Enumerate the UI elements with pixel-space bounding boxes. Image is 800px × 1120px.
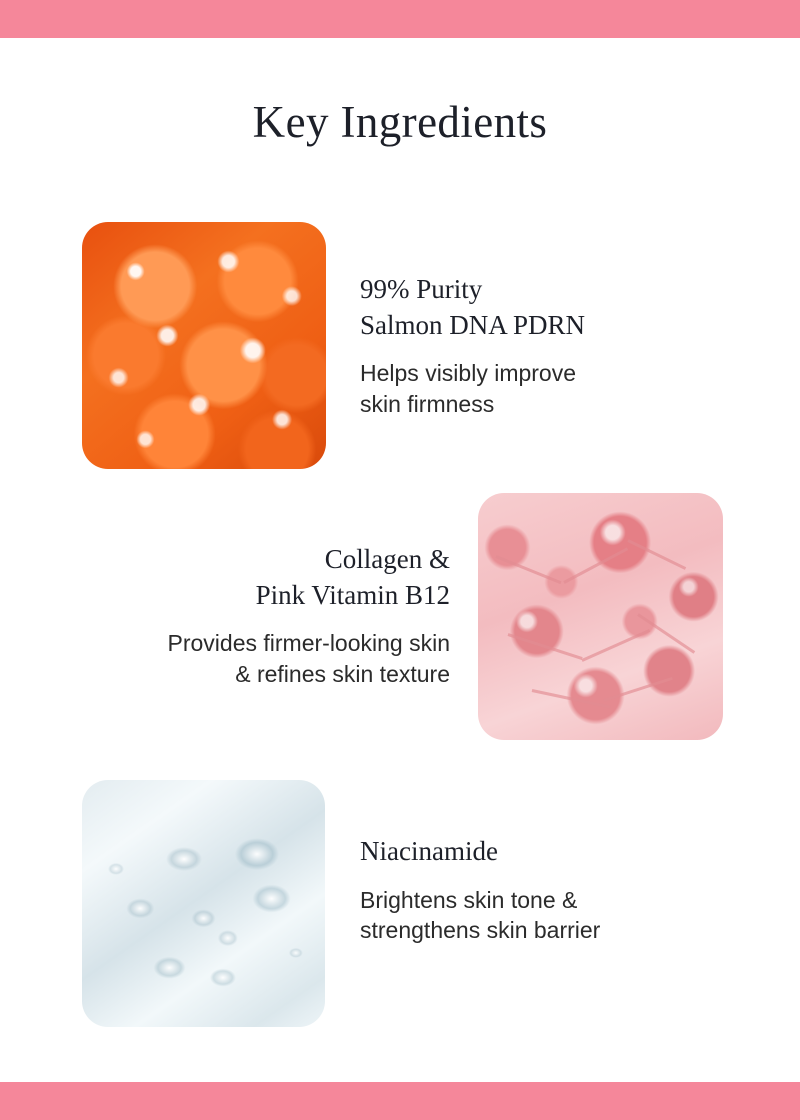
ingredient-description: Provides firmer-looking skin & refines s…	[60, 628, 450, 689]
ingredient-description: Brightens skin tone & strengthens skin b…	[360, 885, 710, 946]
ingredient-block-collagen-pink-vitamin-b12: Collagen & Pink Vitamin B12 Provides fir…	[60, 542, 450, 689]
ingredient-description: Helps visibly improve skin firmness	[360, 358, 700, 419]
salmon-roe-image	[82, 222, 326, 469]
ingredient-block-niacinamide: Niacinamide Brightens skin tone & streng…	[360, 834, 710, 946]
top-accent-band	[0, 0, 800, 38]
water-droplets-image	[82, 780, 325, 1027]
ingredient-title: 99% Purity Salmon DNA PDRN	[360, 272, 700, 343]
ingredient-block-salmon-dna-pdrn: 99% Purity Salmon DNA PDRN Helps visibly…	[360, 272, 700, 419]
bottom-accent-band	[0, 1082, 800, 1120]
ingredient-title: Collagen & Pink Vitamin B12	[60, 542, 450, 613]
page-title: Key Ingredients	[0, 96, 800, 148]
ingredient-title: Niacinamide	[360, 834, 710, 870]
pink-molecule-image	[478, 493, 723, 740]
